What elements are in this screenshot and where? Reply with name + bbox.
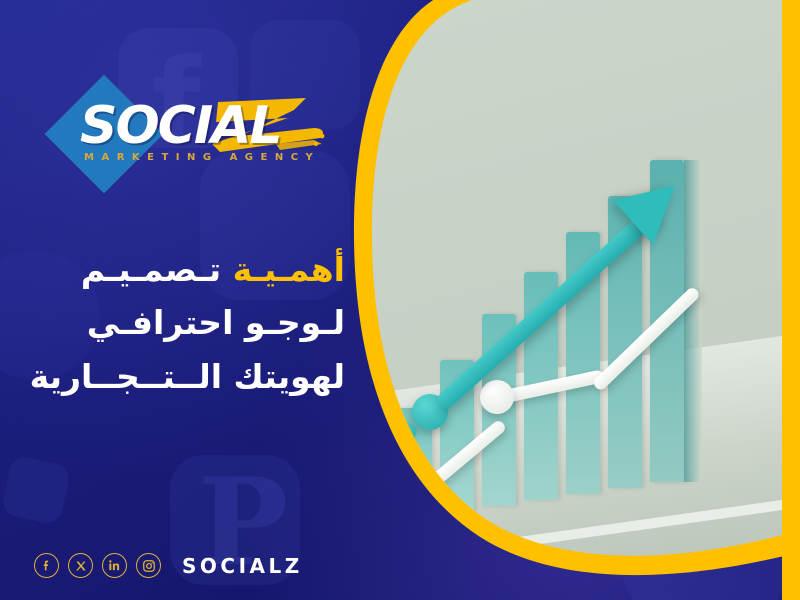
yellow-arc-shape: [354, 0, 800, 575]
headline-line-1: أهمـيـة تـصمـيـم: [15, 243, 345, 296]
right-yellow-edge-bar: [782, 0, 800, 600]
instagram-glyph: [142, 559, 156, 573]
logo-tagline: MARKETING AGENCY: [84, 152, 320, 163]
watermark-square-cube: [0, 454, 71, 525]
facebook-glyph: [40, 559, 53, 572]
footer-brand-name: SOCIALZ: [182, 554, 303, 578]
footer-bar: SOCIALZ: [34, 553, 303, 578]
headline-line-2: لـوجـو احترافـي: [15, 296, 345, 349]
instagram-icon[interactable]: [136, 553, 161, 578]
headline: أهمـيـة تـصمـيـم لـوجـو احترافـي لهويتك …: [15, 243, 345, 403]
photo-blob: [330, 0, 800, 600]
headline-line-1-highlight: أهمـيـة: [233, 250, 345, 289]
yellow-arc-border: [330, 0, 800, 600]
headline-line-3: لهويتك الــتــجــارية: [15, 350, 345, 403]
headline-line-1-rest: تـصمـيـم: [81, 250, 221, 289]
x-glyph: [75, 560, 87, 572]
linkedin-glyph: [108, 559, 121, 572]
social-media-poster: f P: [0, 0, 800, 600]
facebook-icon[interactable]: [34, 553, 59, 578]
brand-logo[interactable]: SOCIAL MARKETING AGENCY: [62, 86, 332, 182]
x-twitter-icon[interactable]: [68, 553, 93, 578]
linkedin-icon[interactable]: [102, 553, 127, 578]
logo-wordmark: SOCIAL: [80, 96, 281, 156]
